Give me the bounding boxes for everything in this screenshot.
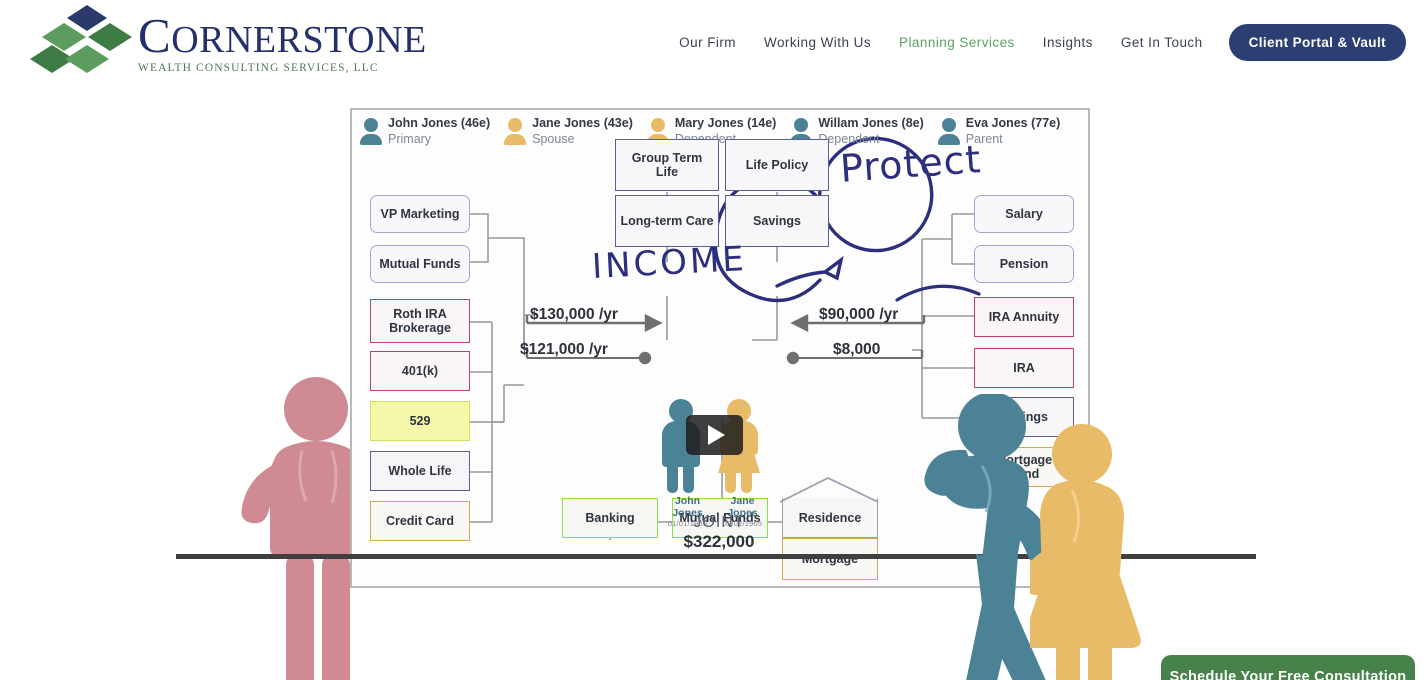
node-salary[interactable]: Salary — [974, 195, 1074, 233]
site-header: CORNERSTONE WEALTH CONSULTING SERVICES, … — [0, 0, 1428, 84]
nav-item-get-in-touch[interactable]: Get In Touch — [1107, 35, 1217, 50]
schedule-consultation-button[interactable]: Schedule Your Free Consultation — [1161, 655, 1415, 680]
brand-logo[interactable]: CORNERSTONE WEALTH CONSULTING SERVICES, … — [28, 2, 348, 82]
flow-left-bottom-amount: $121,000 /yr — [520, 341, 608, 359]
nav-item-planning-services[interactable]: Planning Services — [885, 35, 1029, 50]
node-whole-life[interactable]: Whole Life — [370, 451, 470, 491]
node-group-term-life[interactable]: Group Term Life — [615, 139, 719, 191]
nav-item-our-firm[interactable]: Our Firm — [665, 35, 750, 50]
flow-left-top-amount: $130,000 /yr — [530, 306, 618, 324]
joint-label: JOINT — [660, 514, 778, 532]
node-401k[interactable]: 401(k) — [370, 351, 470, 391]
person-icon — [504, 118, 526, 144]
node-pension[interactable]: Pension — [974, 245, 1074, 283]
brand-name-rest: ORNERSTONE — [171, 19, 427, 61]
nav-item-working-with-us[interactable]: Working With Us — [750, 35, 885, 50]
node-credit-card[interactable]: Credit Card — [370, 501, 470, 541]
flow-right-top-amount: $90,000 /yr — [819, 306, 898, 324]
nav-item-insights[interactable]: Insights — [1029, 35, 1107, 50]
legend-name: John Jones (46e) — [388, 116, 490, 132]
node-mortgage[interactable]: Mortgage — [782, 538, 878, 580]
person-icon — [360, 118, 382, 144]
brand-name: CORNERSTONE — [138, 11, 427, 60]
node-residence[interactable]: Residence — [782, 498, 878, 538]
main-navigation: Our Firm Working With Us Planning Servic… — [665, 0, 1406, 84]
cornerstone-diamond-logo-icon — [28, 3, 134, 81]
node-mutual-funds-left[interactable]: Mutual Funds — [370, 245, 470, 283]
node-long-term-care[interactable]: Long-term Care — [615, 195, 719, 247]
client-portal-vault-button[interactable]: Client Portal & Vault — [1229, 24, 1406, 61]
node-vp-marketing[interactable]: VP Marketing — [370, 195, 470, 233]
node-life-policy[interactable]: Life Policy — [725, 139, 829, 191]
legend-name: Eva Jones (77e) — [966, 116, 1061, 132]
node-label: Roth IRA Brokerage — [375, 307, 465, 335]
annotation-protect: Protect — [839, 137, 983, 191]
brand-tagline: WEALTH CONSULTING SERVICES, LLC — [138, 62, 427, 74]
node-banking[interactable]: Banking — [562, 498, 658, 538]
video-play-button[interactable] — [686, 415, 743, 455]
legend-name: Mary Jones (14e) — [675, 116, 776, 132]
node-ira-annuity[interactable]: IRA Annuity — [974, 297, 1074, 337]
annotation-income: INCOME — [591, 239, 748, 287]
play-icon — [708, 425, 725, 445]
brand-name-initial: C — [138, 8, 171, 63]
background-silhouette-yellow-woman — [1030, 424, 1210, 680]
node-529[interactable]: 529 — [370, 401, 470, 441]
hero-video-stage: John Jones (46e) Primary Jane Jones (43e… — [0, 84, 1428, 680]
legend-item-john-jones: John Jones (46e) Primary — [360, 116, 504, 147]
legend-role: Primary — [388, 132, 490, 148]
legend-name: Willam Jones (8e) — [818, 116, 923, 132]
node-roth-ira-brokerage[interactable]: Roth IRA Brokerage — [370, 299, 470, 343]
node-ira[interactable]: IRA — [974, 348, 1074, 388]
joint-account-block: JOINT $322,000 — [660, 514, 778, 552]
joint-amount: $322,000 — [660, 532, 778, 552]
legend-name: Jane Jones (43e) — [532, 116, 633, 132]
flow-right-bottom-amount: $8,000 — [833, 341, 880, 359]
